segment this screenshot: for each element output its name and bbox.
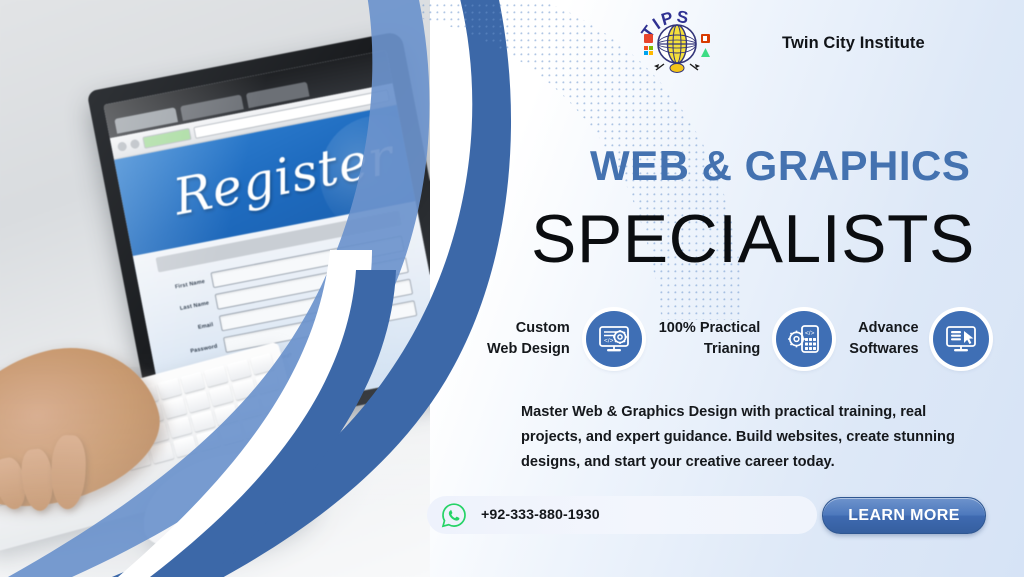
paragraph-line-4: creative career today.	[686, 454, 835, 470]
description-paragraph: Master Web & Graphics Design with practi…	[521, 400, 991, 475]
password-label: Password	[178, 344, 218, 358]
contact-bar[interactable]: +92-333-880-1930	[427, 496, 817, 534]
back-icon	[117, 141, 128, 152]
paragraph-line-1: Master Web & Graphics Design with practi…	[521, 404, 926, 420]
whatsapp-icon[interactable]	[441, 502, 467, 528]
feature-advance-softwares: Advance Softwares	[849, 311, 988, 367]
svg-text:</>: </>	[604, 338, 614, 345]
feature-label: Custom Web Design	[487, 318, 570, 359]
brand-name: Twin City Institute	[782, 34, 925, 53]
feature-label-line2: Trianing	[704, 341, 760, 357]
tips-globe-logo-icon: TIPS	[640, 8, 714, 78]
feature-practical-training: 100% Practical Trianing	[659, 311, 833, 367]
first-name-label: First Name	[165, 279, 205, 293]
last-name-label: Last Name	[169, 300, 209, 314]
headline-secondary: SPECIALISTS	[531, 200, 975, 278]
monitor-code-gear-icon: </>	[586, 311, 642, 367]
mobile-code-gear-icon: </>	[776, 311, 832, 367]
forward-icon	[130, 139, 141, 150]
headline-primary: WEB & GRAPHICS	[590, 142, 970, 190]
phone-number[interactable]: +92-333-880-1930	[481, 507, 600, 523]
feature-list: Custom Web Design </>	[487, 300, 1007, 378]
feature-label: Advance Softwares	[849, 318, 918, 359]
svg-text:</>: </>	[805, 330, 815, 337]
tips-logo: TIPS	[640, 8, 714, 78]
feature-custom-web-design: Custom Web Design </>	[487, 311, 642, 367]
learn-more-button[interactable]: LEARN MORE	[822, 497, 986, 534]
brand-header: TIPS Twin City Institute	[640, 8, 925, 78]
feature-label: 100% Practical Trianing	[659, 318, 761, 359]
paragraph-line-2: projects, and expert guidance.	[521, 429, 732, 445]
mouse-scroll-button	[245, 455, 297, 496]
feature-label-line1: 100% Practical	[659, 320, 761, 336]
promo-banner: Register First Name Last Name	[0, 0, 1024, 577]
email-label: Email	[174, 322, 214, 336]
feature-label-line1: Advance	[858, 320, 918, 336]
monitor-cursor-icon	[933, 311, 989, 367]
feature-label-line2: Softwares	[849, 341, 918, 357]
feature-label-line2: Web Design	[487, 341, 570, 357]
hero-photo: Register First Name Last Name	[0, 0, 430, 577]
feature-label-line1: Custom	[516, 320, 570, 336]
